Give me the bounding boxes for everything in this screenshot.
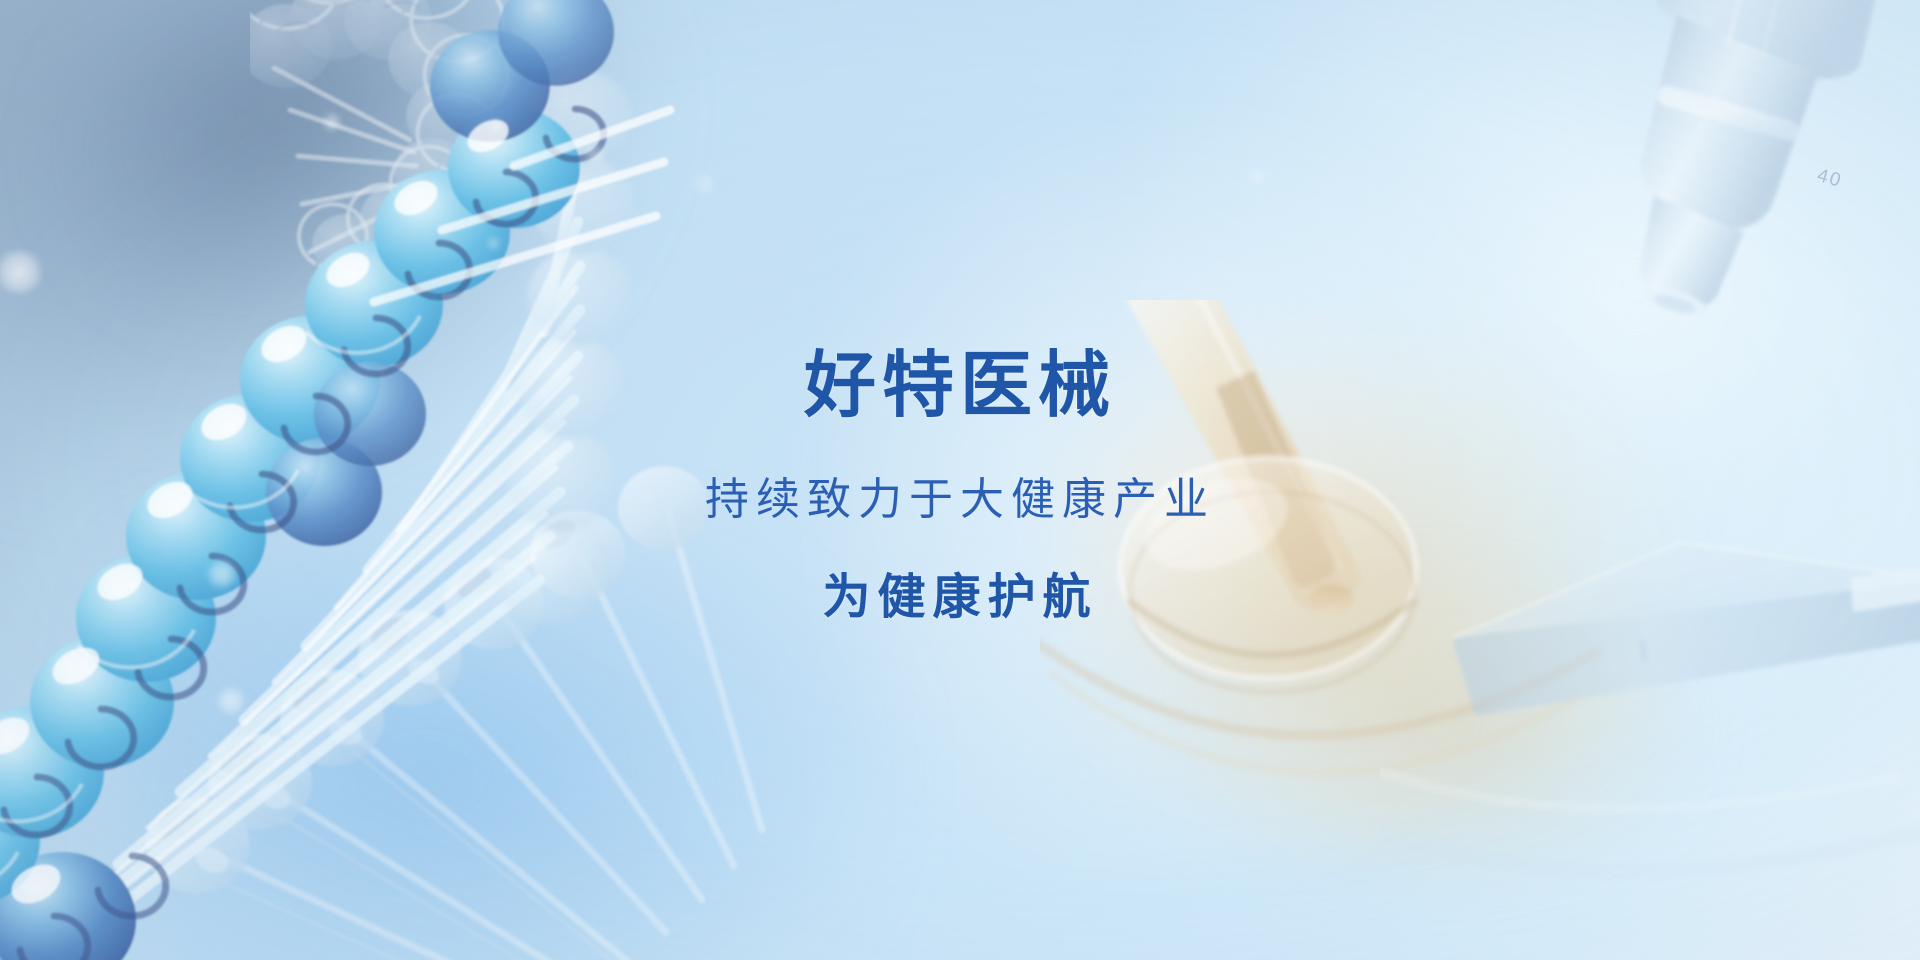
headline-block: 好特医械 持续致力于大健康产业 为健康护航 xyxy=(0,350,1920,622)
page-subtitle: 持续致力于大健康产业 xyxy=(0,478,1920,522)
page-slogan: 为健康护航 xyxy=(0,574,1920,622)
page-title: 好特医械 xyxy=(0,350,1920,422)
hero-banner: 40 xyxy=(0,0,1920,960)
